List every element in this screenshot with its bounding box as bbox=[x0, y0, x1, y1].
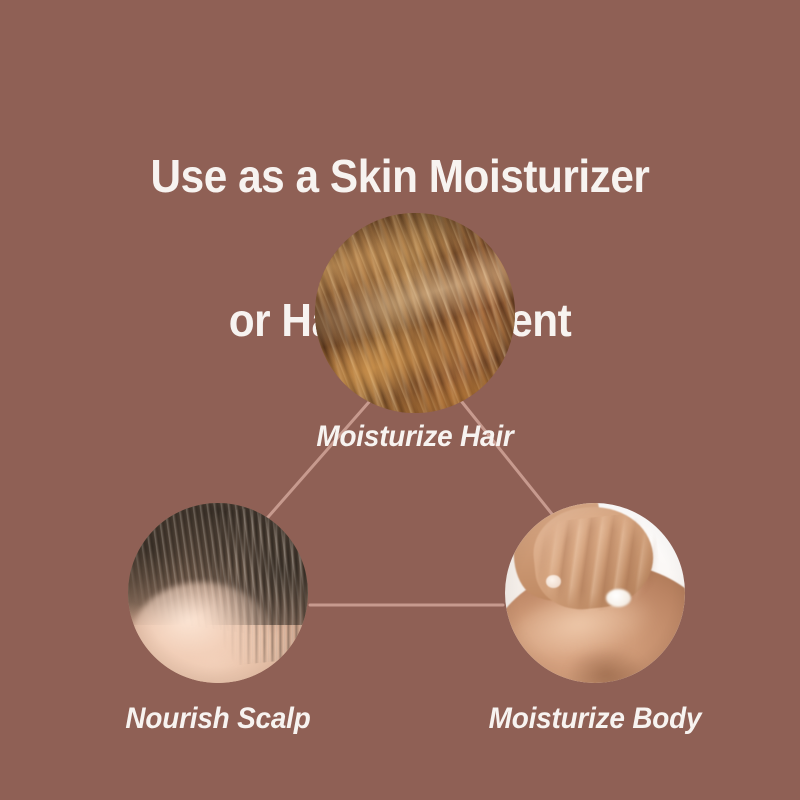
photo-circle-scalp bbox=[128, 503, 308, 683]
label-nourish-scalp: Nourish Scalp bbox=[55, 702, 381, 736]
hair-vignette bbox=[315, 213, 515, 413]
body-photo bbox=[505, 503, 685, 683]
scalp-photo bbox=[128, 503, 308, 683]
promo-poster: Use as a Skin Moisturizer or Hair Treatm… bbox=[0, 0, 800, 800]
hair-photo bbox=[315, 213, 515, 413]
body-vignette bbox=[505, 503, 685, 683]
label-moisturize-body: Moisturize Body bbox=[432, 702, 758, 736]
photo-circle-body bbox=[505, 503, 685, 683]
photo-circle-hair bbox=[315, 213, 515, 413]
label-moisturize-hair: Moisturize Hair bbox=[29, 420, 800, 454]
scalp-vignette bbox=[128, 503, 308, 683]
